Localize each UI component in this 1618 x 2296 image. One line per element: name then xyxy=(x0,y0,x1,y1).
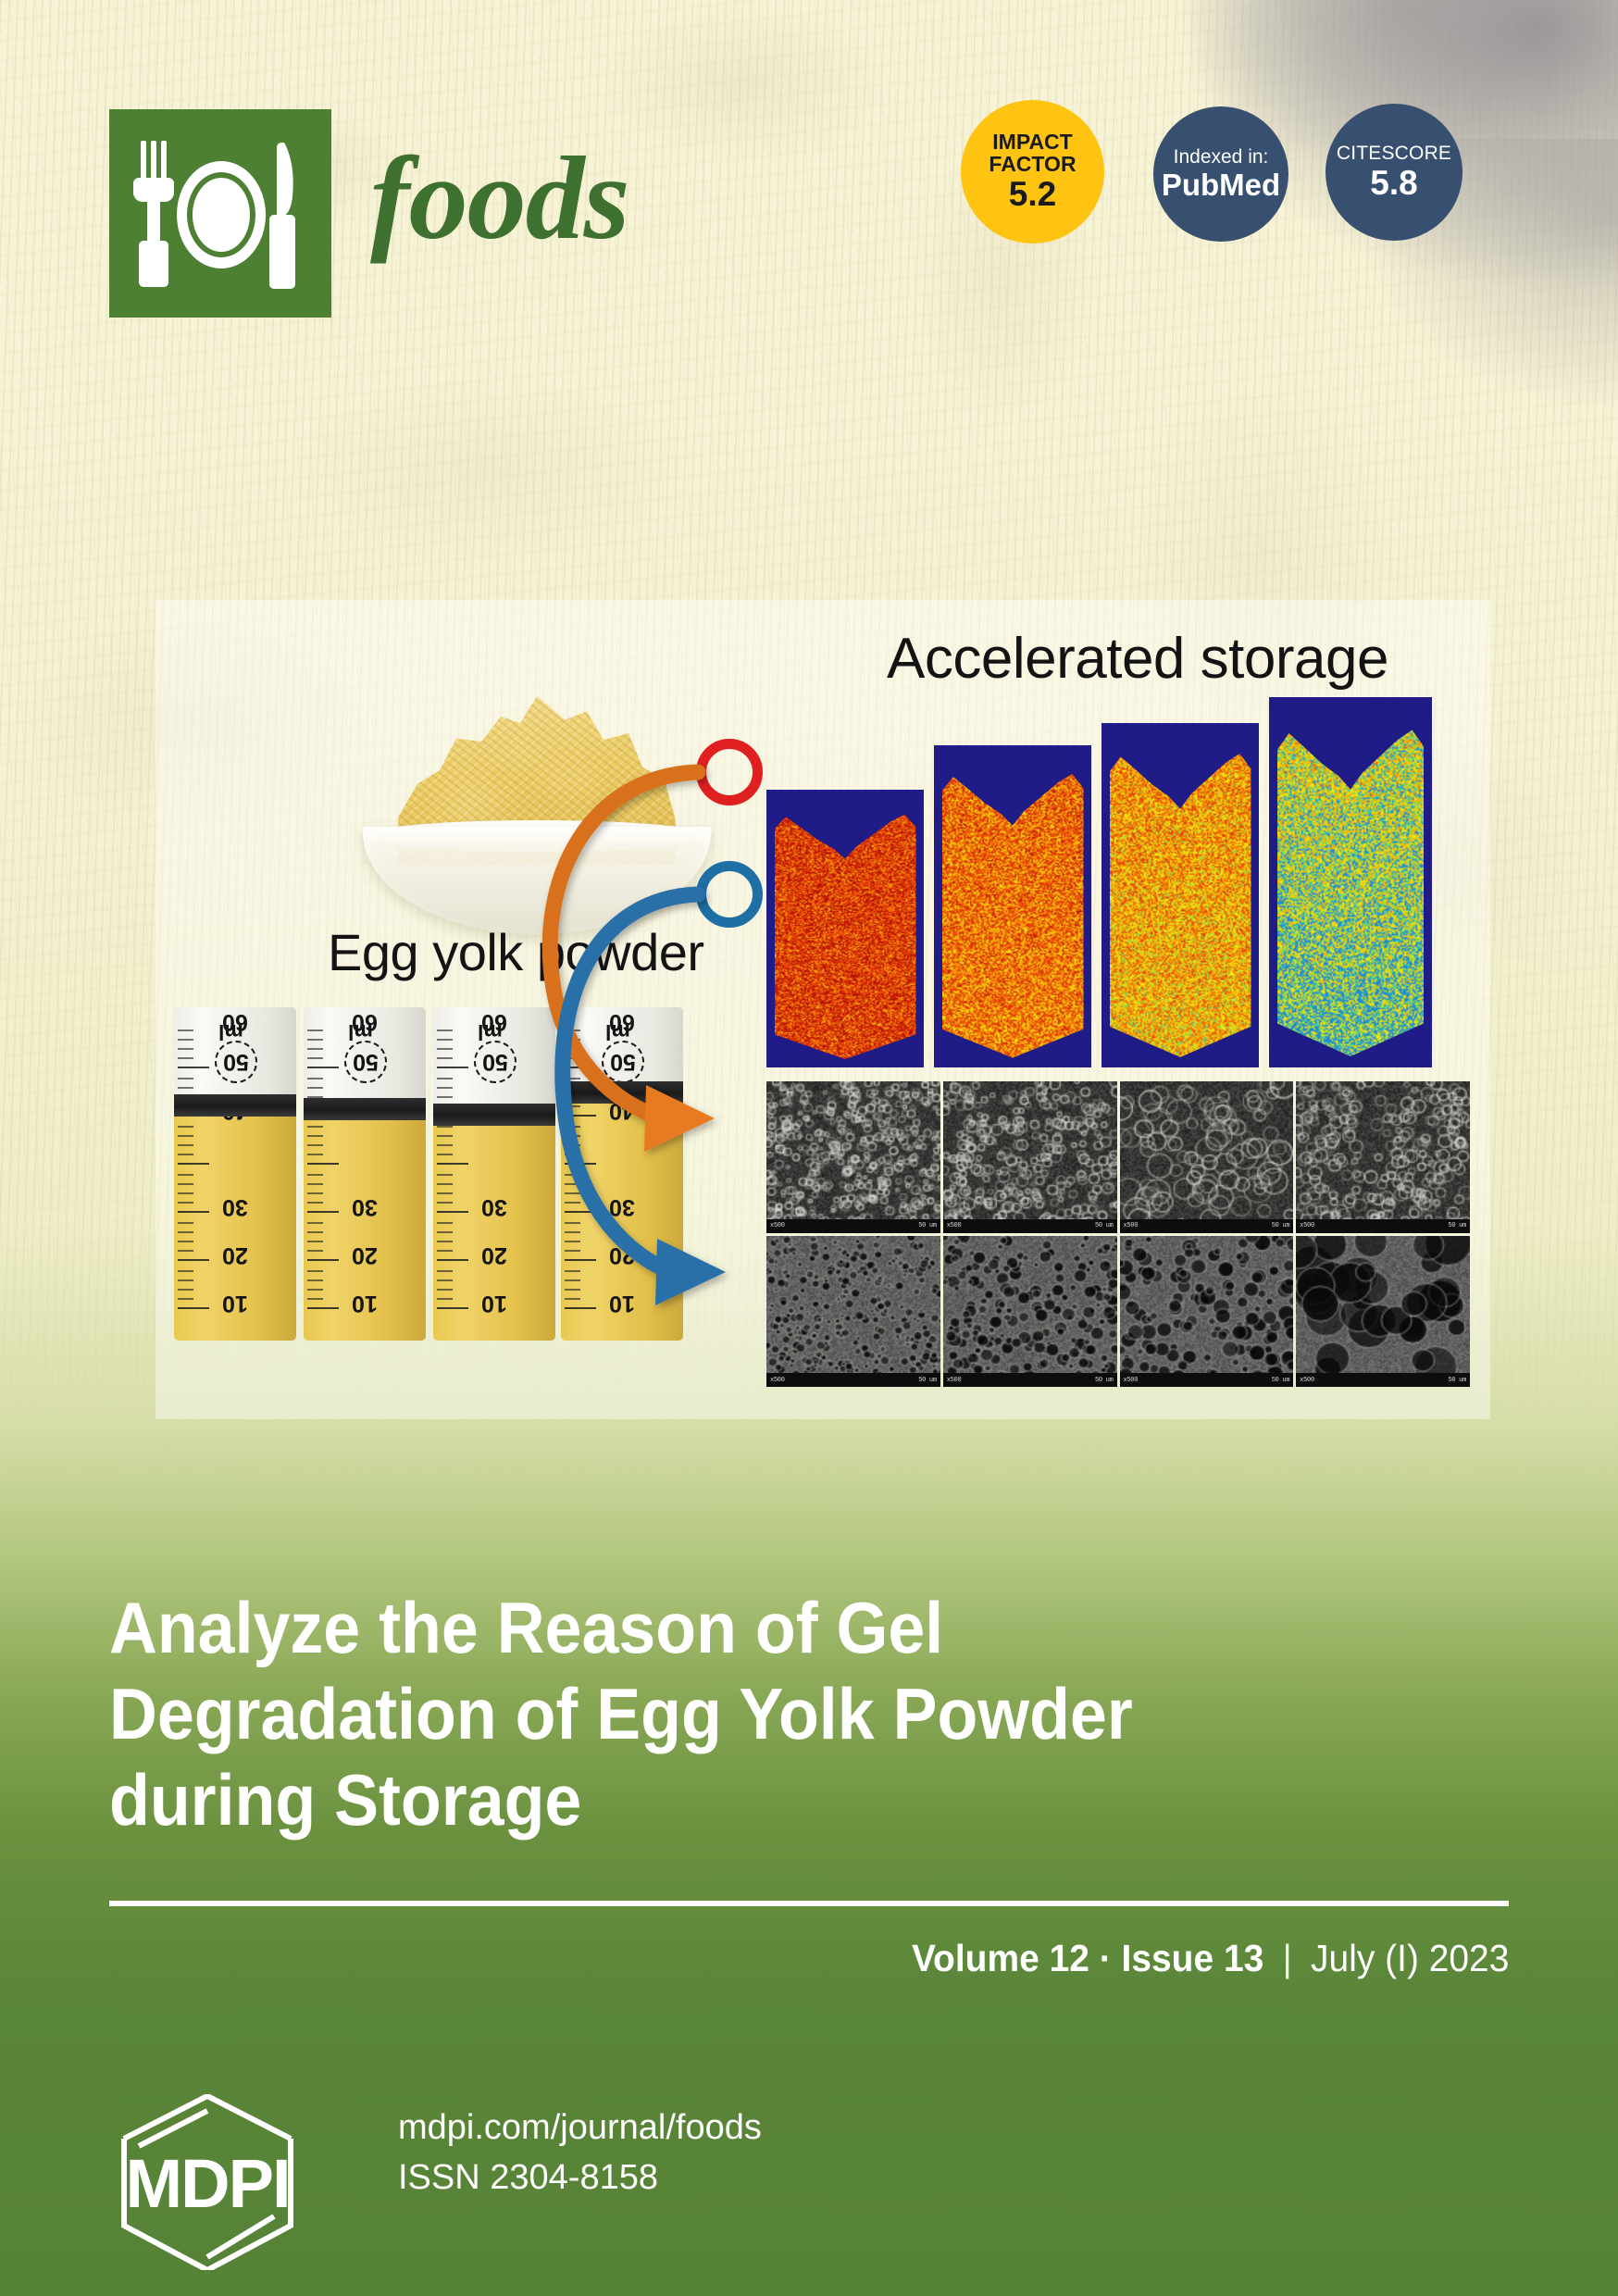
bowl-body xyxy=(363,827,711,934)
footer-links: mdpi.com/journal/foods ISSN 2304-8158 xyxy=(398,2103,762,2203)
sem-micrograph-2: x50050 um xyxy=(943,1081,1117,1233)
sem-micrograph-grid: x50050 umx50050 umx50050 umx50050 umx500… xyxy=(766,1081,1470,1387)
scale-unit: ml xyxy=(218,1019,243,1044)
graphical-abstract-panel[interactable]: Accelerated storage Egg yolk powder 1020… xyxy=(156,600,1490,1419)
sem-micrograph-4: x50050 um xyxy=(1296,1081,1470,1233)
pubmed-value: PubMed xyxy=(1162,169,1280,201)
scale-unit: ml xyxy=(605,1019,630,1044)
sem-info-bar: x50050 um xyxy=(766,1373,940,1387)
syringe-1: 102030406050ml xyxy=(174,1007,296,1341)
issue-line: Volume 12 · Issue 13 | July (I) 2023 xyxy=(912,1937,1509,1980)
sem-micrograph-1: x50050 um xyxy=(766,1081,940,1233)
scale-number: 10 xyxy=(352,1290,378,1316)
sem-magnification: x500 xyxy=(770,1377,785,1384)
pubmed-badge[interactable]: Indexed in: PubMed xyxy=(1153,106,1288,242)
scale-unit: ml xyxy=(348,1019,373,1044)
scale-number: 10 xyxy=(609,1290,635,1316)
scale-number: 30 xyxy=(481,1193,507,1220)
mri-panel-1 xyxy=(766,790,924,1067)
foods-logo-mark[interactable] xyxy=(109,109,331,318)
sem-info-bar: x50050 um xyxy=(1296,1219,1470,1233)
plate-fork-knife-icon xyxy=(133,137,307,293)
sem-info-bar: x50050 um xyxy=(1120,1219,1294,1233)
sem-micrograph-5: x50050 um xyxy=(766,1236,940,1388)
sem-scalebar-unit: 50 um xyxy=(1095,1377,1114,1384)
sem-scalebar-unit: 50 um xyxy=(1272,1222,1290,1229)
sem-scalebar-unit: 50 um xyxy=(1095,1222,1114,1229)
syringe-scale: 102030406050ml xyxy=(304,1007,426,1341)
scale-number: 10 xyxy=(222,1290,248,1316)
scale-unit: ml xyxy=(478,1019,503,1044)
blue-highlight-circle xyxy=(696,861,763,928)
sem-magnification: x500 xyxy=(947,1222,962,1229)
scale-number: 30 xyxy=(609,1193,635,1220)
sem-info-bar: x50050 um xyxy=(766,1219,940,1233)
sem-info-bar: x50050 um xyxy=(1296,1373,1470,1387)
mri-speckle xyxy=(1110,751,1251,1057)
title-divider xyxy=(109,1901,1509,1906)
plunger-seal xyxy=(433,1104,555,1126)
journal-cover: foods IMPACT FACTOR 5.2 Indexed in: PubM… xyxy=(0,0,1618,2296)
sem-magnification: x500 xyxy=(770,1222,785,1229)
scale-number: 20 xyxy=(222,1242,248,1268)
sem-scalebar-unit: 50 um xyxy=(918,1377,937,1384)
scale-number: 20 xyxy=(352,1242,378,1268)
issue-date: July (I) 2023 xyxy=(1311,1937,1509,1979)
issue-separator: | xyxy=(1274,1937,1301,1979)
mri-panel-2 xyxy=(934,745,1091,1067)
egg-yolk-powder-label: Egg yolk powder xyxy=(328,922,704,982)
sem-magnification: x500 xyxy=(1124,1222,1139,1229)
syringe-scale: 102030406050ml xyxy=(433,1007,555,1341)
syringe-scale: 102030406050ml xyxy=(174,1007,296,1341)
syringe-2: 102030406050ml xyxy=(304,1007,426,1341)
mdpi-hexagon-icon: MDPI xyxy=(111,2094,333,2270)
mri-speckle xyxy=(1277,727,1424,1056)
scale-number-circled: 50 xyxy=(474,1041,517,1083)
mri-speckle xyxy=(775,812,916,1059)
sem-scalebar-unit: 50 um xyxy=(1448,1222,1466,1229)
citescore-label: CITESCORE xyxy=(1337,143,1451,163)
journal-url[interactable]: mdpi.com/journal/foods xyxy=(398,2103,762,2153)
sem-scalebar-unit: 50 um xyxy=(1448,1377,1466,1384)
egg-yolk-powder-bowl-photo xyxy=(352,693,722,933)
scale-number-circled: 50 xyxy=(602,1041,644,1083)
accelerated-storage-heading: Accelerated storage xyxy=(887,626,1388,692)
scale-number-circled: 50 xyxy=(344,1041,387,1083)
mri-gel-region xyxy=(1277,727,1424,1056)
pubmed-label: Indexed in: xyxy=(1174,147,1269,167)
plunger-seal xyxy=(561,1081,683,1104)
mri-heatmap-row xyxy=(766,697,1470,1067)
sem-micrograph-6: x50050 um xyxy=(943,1236,1117,1388)
mri-panel-3 xyxy=(1101,723,1259,1067)
citescore-value: 5.8 xyxy=(1370,166,1417,201)
mri-gel-region xyxy=(775,812,916,1059)
citescore-badge[interactable]: CITESCORE 5.8 xyxy=(1326,104,1462,241)
sem-scalebar-unit: 50 um xyxy=(1272,1377,1290,1384)
sem-micrograph-7: x50050 um xyxy=(1120,1236,1294,1388)
impact-factor-line2: FACTOR xyxy=(989,154,1076,175)
sem-magnification: x500 xyxy=(947,1377,962,1384)
sem-info-bar: x50050 um xyxy=(943,1219,1117,1233)
sem-micrograph-3: x50050 um xyxy=(1120,1081,1294,1233)
sem-magnification: x500 xyxy=(1124,1377,1139,1384)
mri-gel-region xyxy=(942,771,1084,1058)
scale-number: 10 xyxy=(481,1290,507,1316)
graduated-syringe-row: 102030406050ml102030406050ml102030406050… xyxy=(174,1007,692,1350)
mri-panel-4 xyxy=(1269,697,1432,1067)
sem-scalebar-unit: 50 um xyxy=(918,1222,937,1229)
plunger-seal xyxy=(174,1094,296,1117)
volume-issue-text: Volume 12 · Issue 13 xyxy=(912,1937,1263,1979)
mdpi-logo[interactable]: MDPI xyxy=(111,2094,333,2270)
mri-speckle xyxy=(942,771,1084,1058)
mdpi-wordmark: MDPI xyxy=(126,2145,290,2222)
syringe-4: 102030406050ml xyxy=(561,1007,683,1341)
impact-factor-value: 5.2 xyxy=(1009,177,1056,212)
sem-micrograph-8: x50050 um xyxy=(1296,1236,1470,1388)
impact-factor-line1: IMPACT xyxy=(992,131,1072,153)
scale-number: 30 xyxy=(352,1193,378,1220)
mri-gel-region xyxy=(1110,751,1251,1057)
scale-number: 20 xyxy=(609,1242,635,1268)
sem-magnification: x500 xyxy=(1300,1222,1314,1229)
plunger-seal xyxy=(304,1098,426,1120)
scale-number-circled: 50 xyxy=(215,1041,257,1083)
scale-number: 30 xyxy=(222,1193,248,1220)
syringe-scale: 102030406050ml xyxy=(561,1007,683,1341)
issn-text: ISSN 2304-8158 xyxy=(398,2153,762,2203)
scale-number: 20 xyxy=(481,1242,507,1268)
sem-info-bar: x50050 um xyxy=(943,1373,1117,1387)
journal-title-wordmark[interactable]: foods xyxy=(370,139,629,257)
syringe-3: 102030406050ml xyxy=(433,1007,555,1341)
impact-factor-badge[interactable]: IMPACT FACTOR 5.2 xyxy=(961,100,1104,243)
sem-info-bar: x50050 um xyxy=(1120,1373,1294,1387)
red-highlight-circle xyxy=(696,739,763,805)
page-title: Analyze the Reason of Gel Degradation of… xyxy=(109,1585,1318,1842)
sem-magnification: x500 xyxy=(1300,1377,1314,1384)
